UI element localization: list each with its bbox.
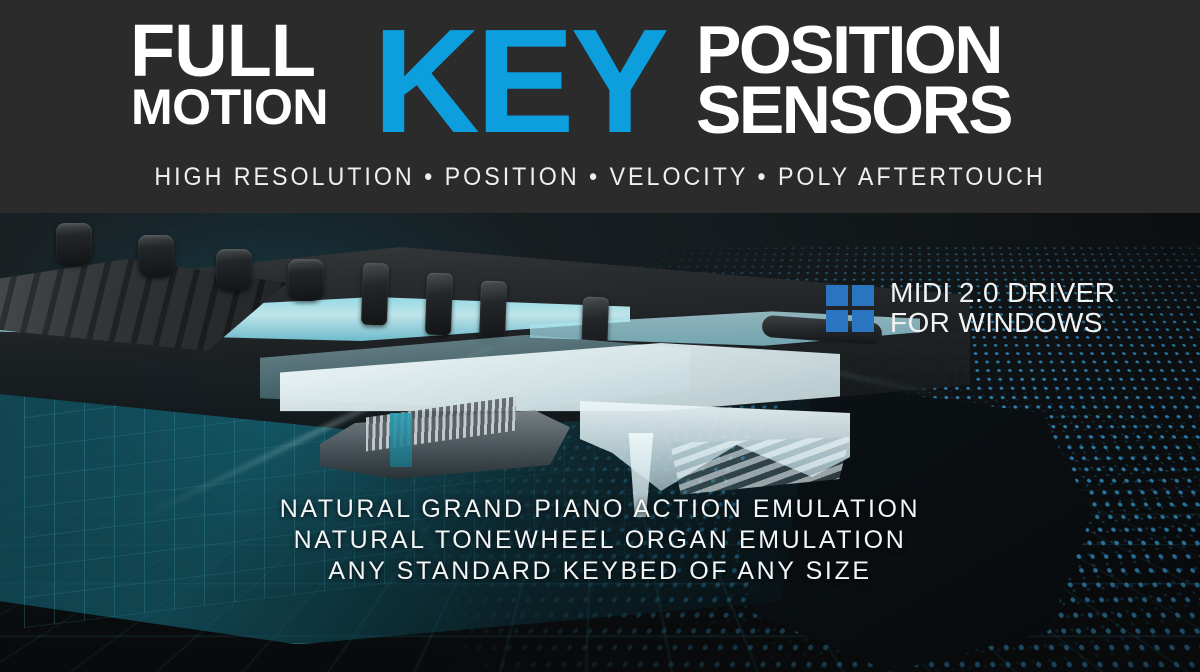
control-knob — [216, 249, 252, 291]
headline: FULL MOTION KEY POSITION SENSORS — [130, 20, 1090, 145]
feature-line: NATURAL TONEWHEEL ORGAN EMULATION — [0, 525, 1200, 556]
windows-logo-pane — [826, 285, 848, 307]
key-internal-ribs — [670, 437, 850, 497]
xray-key-assembly — [280, 283, 900, 513]
windows-logo-pane — [852, 285, 874, 307]
headline-word-motion: MOTION — [131, 82, 328, 132]
windows-logo-pane — [852, 310, 874, 332]
windows-logo-icon — [826, 285, 874, 332]
feature-copy-block: NATURAL GRAND PIANO ACTION EMULATION NAT… — [0, 494, 1200, 587]
product-render: MIDI 2.0 DRIVER FOR WINDOWS NATURAL GRAN… — [0, 213, 1200, 672]
windows-logo-pane — [826, 310, 848, 332]
promo-banner: FULL MOTION KEY POSITION SENSORS HIGH RE… — [0, 0, 1200, 672]
midi-badge-line-1: MIDI 2.0 DRIVER — [890, 278, 1115, 308]
midi-badge-text: MIDI 2.0 DRIVER FOR WINDOWS — [890, 278, 1115, 338]
feature-line: NATURAL GRAND PIANO ACTION EMULATION — [0, 494, 1200, 525]
headline-word-key: KEY — [373, 8, 665, 156]
midi-badge-line-2: FOR WINDOWS — [890, 308, 1115, 338]
headline-left-group: FULL MOTION — [130, 20, 378, 145]
control-knob — [56, 223, 92, 265]
midi-driver-badge: MIDI 2.0 DRIVER FOR WINDOWS — [826, 278, 1115, 338]
control-knob — [138, 235, 174, 277]
subtitle-feature-list: HIGH RESOLUTION • POSITION • VELOCITY • … — [42, 163, 1158, 192]
sensor-post — [390, 413, 412, 467]
feature-line: ANY STANDARD KEYBED OF ANY SIZE — [0, 556, 1200, 587]
header-band: FULL MOTION KEY POSITION SENSORS HIGH RE… — [0, 0, 1200, 213]
headline-word-sensors: SENSORS — [696, 76, 1011, 144]
headline-word-full: FULL — [130, 14, 315, 88]
